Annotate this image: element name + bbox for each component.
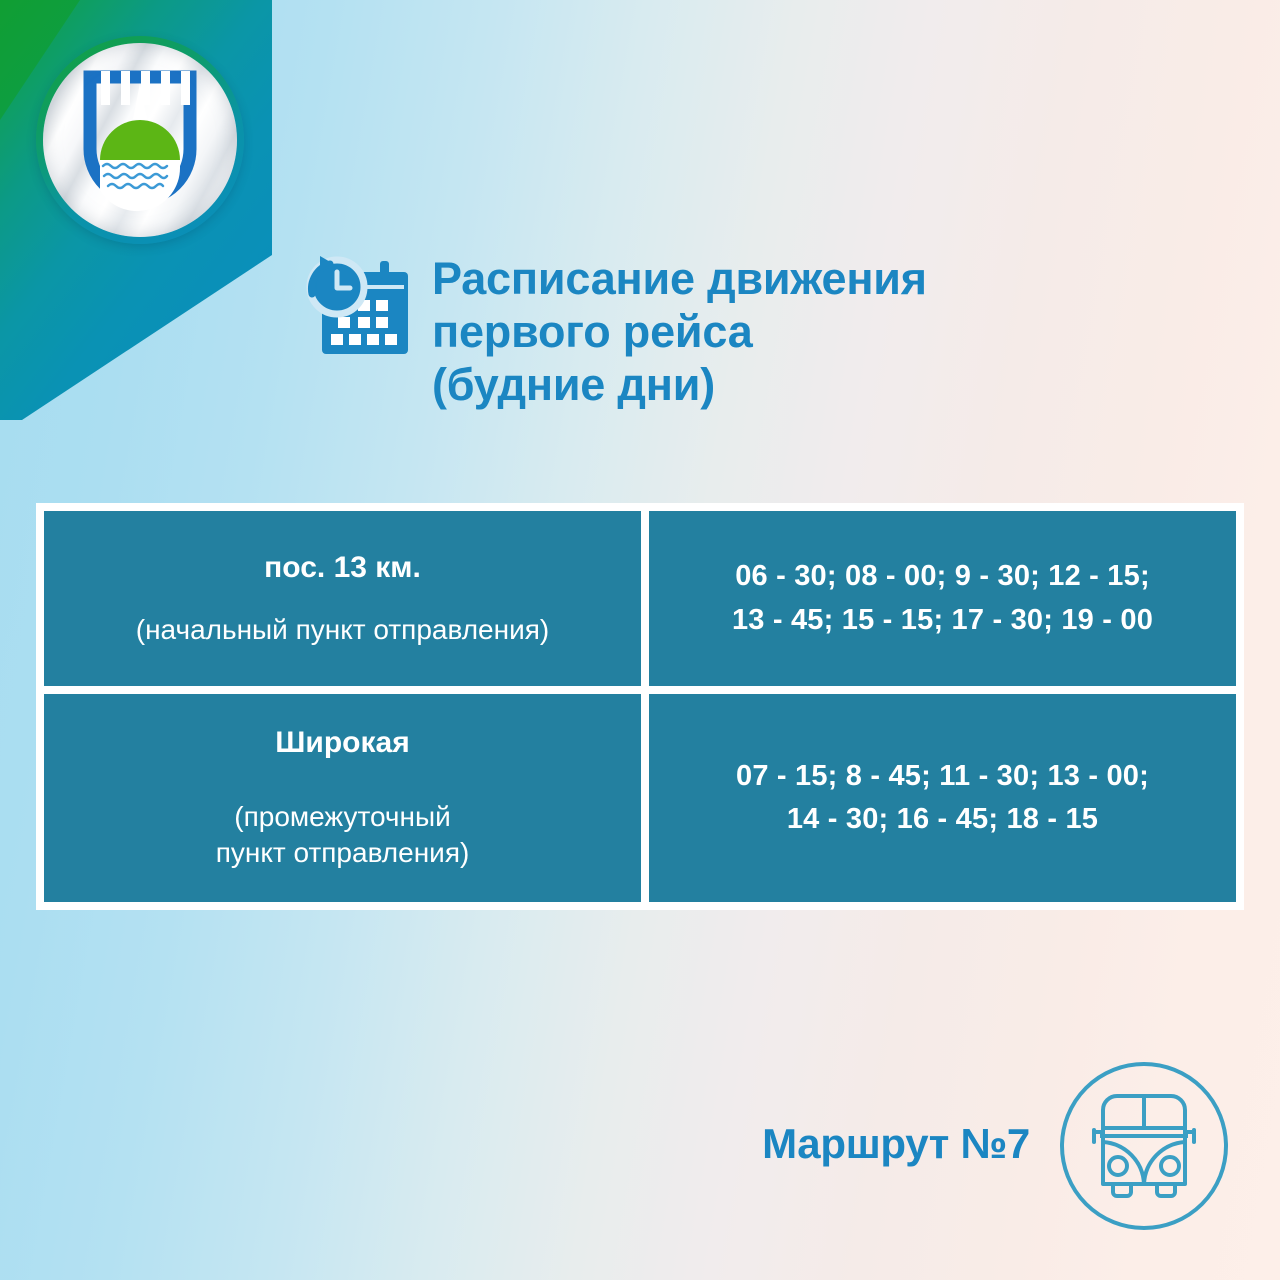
place-note: (начальный пункт отправления) — [136, 612, 549, 648]
place-name: пос. 13 км. — [264, 550, 421, 586]
place-note: (промежуточный пункт отправления) — [216, 799, 470, 871]
cell-departure-point: пос. 13 км. (начальный пункт отправления… — [44, 511, 641, 686]
page-footer: Маршрут №7 — [762, 1058, 1232, 1234]
route-label: Маршрут №7 — [762, 1120, 1030, 1172]
bus-circle-icon — [1056, 1058, 1232, 1234]
times-list: 07 - 15; 8 - 45; 11 - 30; 13 - 00; 14 - … — [736, 755, 1149, 842]
times-list: 06 - 30; 08 - 00; 9 - 30; 12 - 15; 13 - … — [732, 555, 1153, 642]
emblem-satin-disc — [43, 43, 237, 237]
municipal-emblem — [36, 36, 244, 244]
page-title: Расписание движения первого рейса (будни… — [432, 248, 927, 411]
calendar-clock-icon — [296, 252, 414, 362]
cell-departure-times: 06 - 30; 08 - 00; 9 - 30; 12 - 15; 13 - … — [649, 511, 1236, 686]
cell-departure-times: 07 - 15; 8 - 45; 11 - 30; 13 - 00; 14 - … — [649, 694, 1236, 902]
page-header: Расписание движения первого рейса (будни… — [296, 248, 1026, 411]
schedule-table: пос. 13 км. (начальный пункт отправления… — [36, 503, 1244, 910]
cell-departure-point: Широкая (промежуточный пункт отправления… — [44, 694, 641, 902]
place-name: Широкая — [275, 725, 409, 761]
table-row: Широкая (промежуточный пункт отправления… — [44, 694, 1236, 902]
table-row: пос. 13 км. (начальный пункт отправления… — [44, 511, 1236, 686]
coat-of-arms-icon — [43, 43, 237, 237]
poster-canvas: Расписание движения первого рейса (будни… — [0, 0, 1280, 1280]
